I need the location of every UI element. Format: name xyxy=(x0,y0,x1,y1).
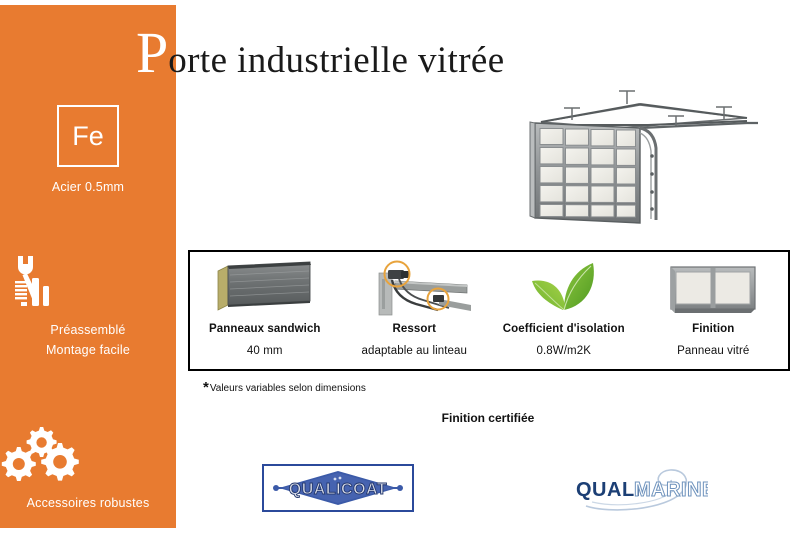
feature-title: Finition xyxy=(692,323,734,335)
gears-icon xyxy=(0,423,176,485)
svg-text:MARINE: MARINE xyxy=(634,479,708,501)
certification-heading: Finition certifiée xyxy=(0,411,800,425)
feature-ressort: Ressort adaptable au linteau xyxy=(340,252,490,369)
sandwich-panel-photo-icon xyxy=(190,257,340,319)
feature-panneaux-sandwich: Panneaux sandwich 40 mm xyxy=(190,252,340,369)
feature-title: Coefficient d'isolation xyxy=(503,323,625,335)
feature-value: Panneau vitré xyxy=(677,345,749,357)
feature-finition: Finition Panneau vitré xyxy=(639,252,789,369)
fe-symbol-label: Fe xyxy=(72,123,104,150)
feature-value: 0.8W/m2K xyxy=(537,345,591,357)
feature-value: adaptable au linteau xyxy=(361,345,467,357)
sidebar-item-assembly: Préassemblé Montage facile xyxy=(0,250,176,360)
glazed-panel-photo-icon xyxy=(639,257,789,319)
sidebar-item-assembly-label-1: Préassemblé xyxy=(0,320,176,340)
svg-text:QUALI: QUALI xyxy=(576,479,641,501)
feature-value: 40 mm xyxy=(247,345,283,357)
sidebar-item-assembly-label-2: Montage facile xyxy=(0,340,176,360)
wrench-tools-icon xyxy=(0,250,176,312)
svg-text:QUALICOAT: QUALICOAT xyxy=(289,481,387,498)
qualicoat-logo: QUALICOAT xyxy=(262,464,414,512)
footnote: *Valeurs variables selon dimensions xyxy=(203,379,366,396)
qualimarine-logo: QUALI MARINE xyxy=(548,466,708,512)
page-title-initial: P xyxy=(136,20,168,85)
footnote-text: Valeurs variables selon dimensions xyxy=(210,383,366,394)
features-box: Panneaux sandwich 40 mm xyxy=(188,250,790,371)
feature-coefficient-isolation: Coefficient d'isolation 0.8W/m2K xyxy=(489,252,639,369)
sidebar-item-accessories: Accessoires robustes xyxy=(0,423,176,513)
green-leaves-icon xyxy=(489,257,639,319)
sidebar-item-material-label: Acier 0.5mm xyxy=(0,177,176,197)
industrial-glazed-door-image xyxy=(500,78,785,230)
page-title-rest: orte industrielle vitrée xyxy=(168,40,504,81)
feature-title: Ressort xyxy=(392,323,436,335)
poster-page: Fe Acier 0.5mm xyxy=(0,0,800,534)
spring-mechanism-photo-icon xyxy=(340,257,490,319)
sidebar-item-accessories-label: Accessoires robustes xyxy=(0,493,176,513)
sidebar-item-material: Fe Acier 0.5mm xyxy=(0,105,176,197)
fe-square-icon: Fe xyxy=(57,105,119,167)
page-title: Porte industrielle vitrée xyxy=(136,24,505,82)
feature-title: Panneaux sandwich xyxy=(209,323,321,335)
footnote-asterisk: * xyxy=(203,379,209,396)
